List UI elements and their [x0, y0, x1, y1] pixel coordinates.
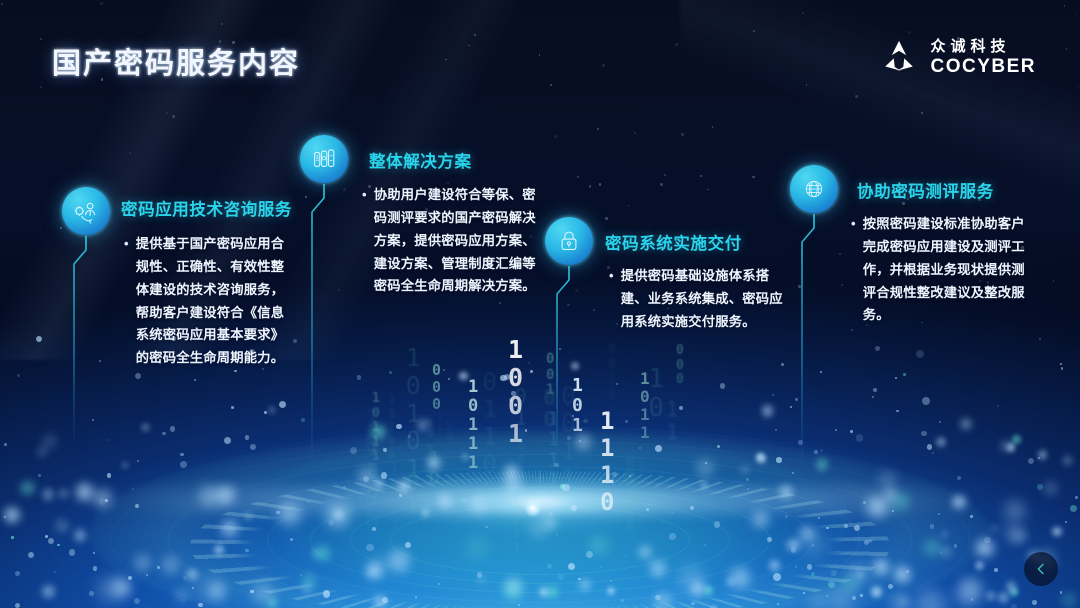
bullet-4: •	[851, 213, 856, 327]
service-body-4: • 按照密码建设标准协助客户完成密码应用建设及测评工作，并根据业务现状提供测评合…	[851, 213, 1031, 327]
bullet-2: •	[362, 184, 367, 298]
logo-wordmark: 众诚科技 COCYBER	[930, 39, 1036, 76]
slide-canvas: 0001011110010011011110101100010111101011…	[0, 0, 1080, 608]
consulting-gear-person-icon[interactable]	[62, 187, 110, 235]
service-heading-3: 密码系统实施交付	[605, 230, 742, 254]
service-text-1: 提供基于国产密码应用合规性、正确性、有效性整体建设的技术咨询服务，帮助客户建设符…	[136, 233, 296, 370]
service-heading-2: 整体解决方案	[369, 148, 472, 172]
globe-network-icon[interactable]	[790, 165, 838, 213]
service-text-4: 按照密码建设标准协助客户完成密码应用建设及测评工作，并根据业务现状提供测评合规性…	[863, 213, 1031, 327]
service-body-2: • 协助用户建设符合等保、密码测评要求的国产密码解决方案，提供密码应用方案、建设…	[362, 184, 538, 298]
page-title: 国产密码服务内容	[52, 40, 300, 82]
bullet-3: •	[609, 265, 614, 334]
bullet-1: •	[124, 233, 129, 370]
service-text-3: 提供密码基础设施体系搭建、业务系统集成、密码应用系统实施交付服务。	[621, 265, 785, 334]
service-heading-4: 协助密码测评服务	[857, 178, 994, 202]
logo-cn-text: 众诚科技	[930, 39, 1036, 54]
service-heading-1: 密码应用技术咨询服务	[121, 196, 292, 220]
tri-arrow-logo-icon	[880, 38, 918, 76]
service-body-1: • 提供基于国产密码应用合规性、正确性、有效性整体建设的技术咨询服务，帮助客户建…	[124, 233, 296, 370]
brand-logo: 众诚科技 COCYBER	[880, 38, 1036, 76]
chevron-left-icon	[1033, 561, 1049, 577]
server-rack-icon[interactable]	[300, 135, 348, 183]
prev-slide-button[interactable]	[1024, 552, 1058, 586]
padlock-icon[interactable]	[545, 217, 593, 265]
service-text-2: 协助用户建设符合等保、密码测评要求的国产密码解决方案，提供密码应用方案、建设方案…	[374, 184, 538, 298]
service-body-3: • 提供密码基础设施体系搭建、业务系统集成、密码应用系统实施交付服务。	[609, 265, 785, 334]
logo-en-text: COCYBER	[930, 57, 1036, 76]
